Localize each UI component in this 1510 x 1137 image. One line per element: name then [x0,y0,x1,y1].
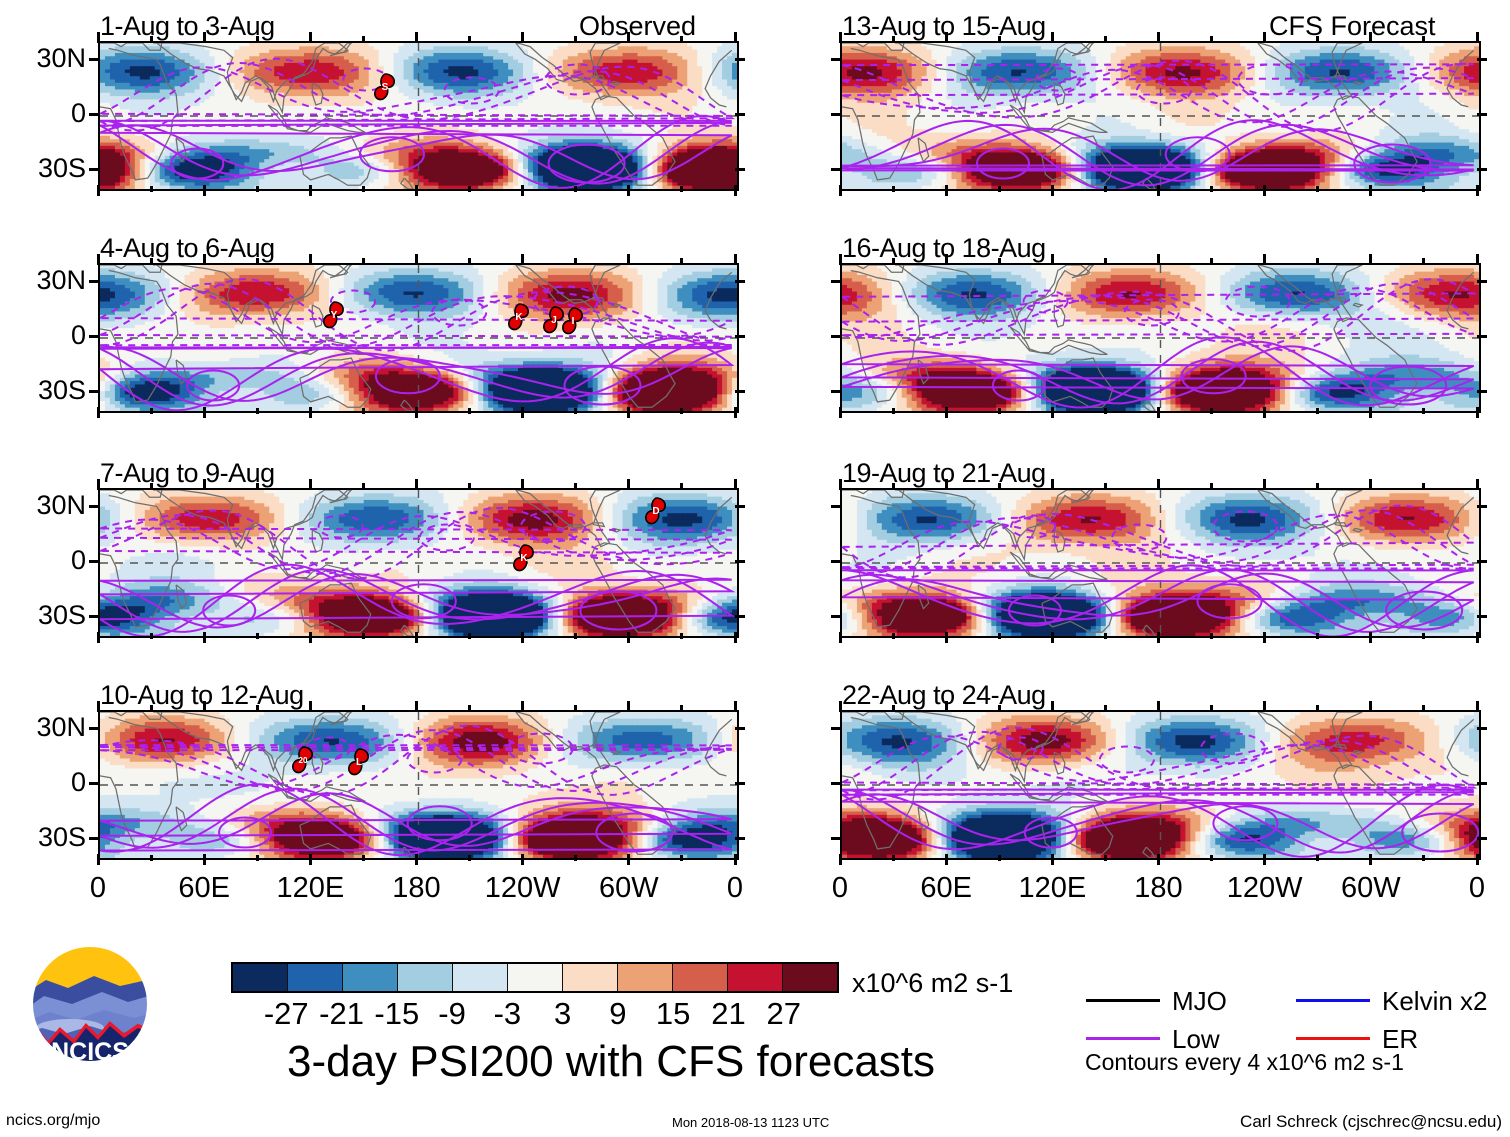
x-axis-tick-mark [203,632,206,643]
x-axis-tick-mark [734,407,737,418]
x-axis-tick-mark [1157,32,1160,43]
colorbar-segment-3 [398,964,453,991]
ncics-logo[interactable]: NCICS [24,938,156,1070]
y-axis-tick-mark [735,58,745,61]
x-axis-tick-mark [468,855,471,861]
y-axis-tick-mark [1477,168,1487,171]
x-axis-tick-mark [998,36,1001,42]
x-axis-tick-label: 120W [1205,874,1325,903]
y-axis-tick-mark [1477,837,1487,840]
x-axis-tick-mark [97,701,100,712]
x-axis-tick-mark [150,483,153,489]
logo-text: NCICS [51,1038,129,1066]
x-axis-tick-mark [203,701,206,712]
x-axis-tick-mark [998,483,1001,489]
x-axis-tick-label: 0 [675,874,795,903]
x-axis-tick-mark [309,407,312,418]
x-axis-tick-mark [680,258,683,264]
colorbar-segment-1 [288,964,343,991]
x-axis-tick-mark [150,186,153,192]
x-axis-tick-mark [1369,701,1372,712]
y-axis-tick-mark [831,727,841,730]
storm-marker: D [643,496,669,526]
x-axis-tick-mark [945,701,948,712]
x-axis-tick-mark [1263,479,1266,490]
x-axis-tick-mark [1210,36,1213,42]
x-axis-tick-mark [680,705,683,711]
y-axis-tick-mark [1477,560,1487,563]
x-axis-tick-mark [1422,186,1425,192]
x-axis-tick-mark [839,185,842,196]
y-axis-tick-label: 30S [2,377,86,404]
y-axis-tick-mark [735,837,745,840]
x-axis-tick-mark [998,258,1001,264]
x-axis-tick-mark [1476,479,1479,490]
colorbar [231,962,839,993]
y-axis-tick-mark [1477,113,1487,116]
y-axis-tick-mark [831,505,841,508]
y-axis-tick-mark [1477,280,1487,283]
x-axis-tick-mark [1210,258,1213,264]
x-axis-tick-mark [150,36,153,42]
x-axis-tick-mark [1316,408,1319,414]
x-axis-tick-mark [203,854,206,865]
y-axis-tick-mark [89,390,99,393]
x-axis-tick-mark [1104,258,1107,264]
x-axis-tick-mark [1263,185,1266,196]
x-axis-tick-label: 0 [780,874,900,903]
x-axis-tick-mark [627,854,630,865]
x-axis-tick-mark [521,32,524,43]
x-axis-tick-mark [1051,407,1054,418]
x-axis-tick-label: 60E [144,874,264,903]
x-axis-tick-mark [309,701,312,712]
x-axis-tick-mark [574,36,577,42]
x-axis-tick-mark [203,254,206,265]
y-axis-tick-mark [1477,505,1487,508]
x-axis-tick-mark [521,701,524,712]
x-axis-tick-mark [415,701,418,712]
x-axis-tick-mark [97,254,100,265]
x-axis-tick-mark [627,632,630,643]
map-plot-area [840,488,1481,638]
x-axis-tick-mark [892,855,895,861]
x-axis-tick-mark [1210,633,1213,639]
y-axis-tick-mark [1477,335,1487,338]
x-axis-tick-mark [1316,186,1319,192]
x-axis-tick-mark [1316,633,1319,639]
x-axis-tick-mark [256,705,259,711]
x-axis-tick-mark [680,36,683,42]
x-axis-tick-mark [1104,705,1107,711]
x-axis-tick-mark [945,479,948,490]
x-axis-tick-mark [203,407,206,418]
y-axis-tick-label: 0 [2,100,86,127]
x-axis-tick-label: 180 [1099,874,1219,903]
x-axis-tick-mark [415,854,418,865]
x-axis-tick-mark [1476,407,1479,418]
x-axis-tick-mark [1316,258,1319,264]
y-axis-tick-mark [831,782,841,785]
x-axis-tick-mark [1263,254,1266,265]
x-axis-tick-mark [1316,36,1319,42]
x-axis-tick-mark [627,407,630,418]
x-axis-tick-mark [1157,407,1160,418]
x-axis-tick-mark [839,254,842,265]
y-axis-tick-mark [89,113,99,116]
x-axis-tick-mark [1476,185,1479,196]
legend-line-low [1086,1037,1160,1040]
map-plot-area: S [98,41,739,191]
x-axis-tick-mark [1316,855,1319,861]
x-axis-tick-mark [1104,855,1107,861]
x-axis-tick-mark [362,258,365,264]
x-axis-tick-mark [362,186,365,192]
x-axis-tick-label: 60W [1311,874,1431,903]
x-axis-tick-mark [1051,854,1054,865]
x-axis-tick-mark [998,186,1001,192]
y-axis-tick-mark [831,58,841,61]
x-axis-tick-mark [839,632,842,643]
x-axis-tick-mark [256,408,259,414]
colorbar-segment-10 [783,964,837,991]
colorbar-units-label: x10^6 m2 s-1 [852,968,1013,999]
x-axis-tick-mark [1263,632,1266,643]
x-axis-tick-mark [362,855,365,861]
x-axis-tick-mark [734,701,737,712]
x-axis-tick-mark [468,633,471,639]
colorbar-segment-0 [233,964,288,991]
map-plot-area: 20L [98,710,739,860]
x-axis-tick-mark [521,854,524,865]
x-axis-tick-mark [521,185,524,196]
y-axis-tick-mark [735,113,745,116]
map-plot-area: KD [98,488,739,638]
legend-line-er [1296,1037,1370,1040]
x-axis-tick-mark [627,479,630,490]
x-axis-tick-mark [1369,407,1372,418]
x-axis-tick-mark [256,483,259,489]
panel-title: 1-Aug to 3-Aug [100,13,275,40]
footer-author: Carl Schreck (cjschrec@ncsu.edu) [1240,1113,1502,1130]
contour-interval-note: Contours every 4 x10^6 m2 s-1 [1085,1049,1404,1076]
x-axis-tick-mark [1369,185,1372,196]
x-axis-tick-mark [203,479,206,490]
x-axis-tick-mark [309,632,312,643]
x-axis-tick-mark [468,483,471,489]
x-axis-tick-mark [97,32,100,43]
x-axis-tick-mark [627,185,630,196]
x-axis-tick-mark [627,254,630,265]
x-axis-tick-mark [574,633,577,639]
x-axis-tick-mark [1104,483,1107,489]
footer-website[interactable]: ncics.org/mjo [6,1113,100,1129]
x-axis-tick-mark [574,705,577,711]
x-axis-tick-mark [1369,32,1372,43]
x-axis-tick-mark [892,483,895,489]
x-axis-tick-mark [1210,705,1213,711]
y-axis-tick-mark [1477,615,1487,618]
x-axis-tick-mark [1157,254,1160,265]
x-axis-tick-label: 120E [992,874,1112,903]
map-plot-area [840,263,1481,413]
x-axis-tick-label: 60W [569,874,689,903]
x-axis-tick-mark [839,407,842,418]
x-axis-tick-label: 0 [38,874,158,903]
x-axis-tick-mark [998,855,1001,861]
y-axis-tick-mark [831,168,841,171]
x-axis-tick-mark [203,185,206,196]
x-axis-tick-mark [680,408,683,414]
x-axis-tick-mark [203,32,206,43]
x-axis-tick-mark [574,258,577,264]
x-axis-tick-mark [627,701,630,712]
x-axis-tick-mark [1316,483,1319,489]
footer-timestamp: Mon 2018-08-13 1123 UTC [672,1116,829,1129]
y-axis-tick-mark [89,168,99,171]
y-axis-tick-mark [89,782,99,785]
colorbar-tick-label: 27 [734,998,834,1029]
x-axis-tick-mark [839,32,842,43]
x-axis-tick-mark [1369,632,1372,643]
storm-marker: L [346,747,372,777]
x-axis-tick-mark [309,32,312,43]
x-axis-tick-mark [256,258,259,264]
y-axis-tick-label: 30N [2,45,86,72]
x-axis-tick-mark [97,479,100,490]
x-axis-tick-mark [1104,633,1107,639]
x-axis-tick-mark [97,185,100,196]
x-axis-tick-mark [309,854,312,865]
colorbar-segment-2 [343,964,398,991]
x-axis-tick-mark [415,254,418,265]
x-axis-tick-label: 60E [886,874,1006,903]
x-axis-tick-mark [1104,408,1107,414]
y-axis-tick-mark [831,837,841,840]
x-axis-tick-mark [627,32,630,43]
x-axis-tick-mark [574,855,577,861]
x-axis-tick-mark [362,408,365,414]
y-axis-tick-mark [831,335,841,338]
storm-marker: 20 [290,745,316,775]
x-axis-tick-mark [362,483,365,489]
x-axis-tick-mark [945,32,948,43]
x-axis-tick-mark [945,407,948,418]
x-axis-tick-mark [1422,408,1425,414]
x-axis-tick-mark [256,633,259,639]
x-axis-tick-mark [256,855,259,861]
y-axis-tick-mark [735,727,745,730]
x-axis-tick-mark [415,185,418,196]
figure-title: 3-day PSI200 with CFS forecasts [226,1040,996,1084]
x-axis-tick-mark [1422,705,1425,711]
y-axis-tick-mark [89,560,99,563]
x-axis-tick-mark [97,407,100,418]
x-axis-tick-mark [1051,479,1054,490]
legend-line-mjo [1086,999,1160,1002]
y-axis-tick-label: 30S [2,602,86,629]
y-axis-tick-mark [1477,390,1487,393]
x-axis-tick-mark [468,705,471,711]
x-axis-tick-mark [1157,185,1160,196]
x-axis-tick-mark [1369,479,1372,490]
x-axis-tick-mark [415,32,418,43]
x-axis-tick-mark [734,632,737,643]
x-axis-tick-mark [1263,407,1266,418]
y-axis-tick-label: 30N [2,492,86,519]
x-axis-tick-mark [998,408,1001,414]
x-axis-tick-label: 120E [250,874,370,903]
x-axis-tick-mark [574,483,577,489]
x-axis-tick-mark [150,705,153,711]
y-axis-tick-mark [735,280,745,283]
y-axis-tick-mark [89,727,99,730]
y-axis-tick-mark [89,505,99,508]
x-axis-tick-mark [256,36,259,42]
x-axis-tick-mark [309,479,312,490]
storm-marker: K [506,302,532,332]
x-axis-tick-mark [415,632,418,643]
x-axis-tick-mark [892,705,895,711]
x-axis-tick-mark [1476,32,1479,43]
x-axis-tick-mark [1263,701,1266,712]
storm-marker: S [372,72,398,102]
y-axis-tick-mark [831,390,841,393]
storm-marker: Y [321,300,347,330]
x-axis-tick-mark [1051,632,1054,643]
x-axis-tick-mark [998,633,1001,639]
x-axis-tick-mark [1422,258,1425,264]
colorbar-segment-4 [453,964,508,991]
storm-marker: K [511,543,537,573]
x-axis-tick-mark [1157,632,1160,643]
legend-label: Kelvin x2 [1382,988,1488,1014]
x-axis-tick-mark [892,186,895,192]
x-axis-tick-mark [362,633,365,639]
x-axis-tick-mark [1157,479,1160,490]
x-axis-tick-mark [1476,632,1479,643]
x-axis-tick-mark [680,633,683,639]
x-axis-tick-mark [1476,854,1479,865]
y-axis-tick-mark [735,560,745,563]
x-axis-tick-mark [892,408,895,414]
y-axis-tick-mark [89,58,99,61]
x-axis-tick-mark [521,254,524,265]
y-axis-tick-mark [1477,782,1487,785]
y-axis-tick-mark [735,615,745,618]
x-axis-tick-mark [1051,701,1054,712]
x-axis-tick-mark [521,407,524,418]
x-axis-tick-mark [468,36,471,42]
y-axis-tick-mark [735,782,745,785]
y-axis-tick-label: 0 [2,769,86,796]
x-axis-tick-mark [468,408,471,414]
y-axis-tick-mark [831,280,841,283]
forecast-column-label: CFS Forecast [1269,13,1436,40]
y-axis-tick-mark [89,837,99,840]
colorbar-segment-8 [673,964,728,991]
x-axis-tick-mark [945,632,948,643]
x-axis-tick-mark [734,32,737,43]
x-axis-tick-mark [734,479,737,490]
x-axis-tick-mark [415,407,418,418]
x-axis-tick-mark [680,855,683,861]
x-axis-tick-mark [1369,254,1372,265]
x-axis-tick-mark [734,254,737,265]
x-axis-tick-mark [680,483,683,489]
x-axis-tick-mark [309,185,312,196]
x-axis-tick-mark [1157,701,1160,712]
x-axis-tick-mark [97,854,100,865]
x-axis-tick-mark [521,479,524,490]
panel-title: 7-Aug to 9-Aug [100,460,275,487]
legend-line-kelvin-x2 [1296,999,1370,1002]
colorbar-segment-6 [563,964,618,991]
x-axis-tick-mark [1422,483,1425,489]
x-axis-tick-mark [362,705,365,711]
x-axis-tick-mark [839,854,842,865]
y-axis-tick-mark [89,280,99,283]
x-axis-tick-mark [1051,185,1054,196]
y-axis-tick-mark [735,168,745,171]
x-axis-tick-mark [1369,854,1372,865]
x-axis-tick-mark [1422,36,1425,42]
x-axis-tick-mark [362,36,365,42]
x-axis-tick-mark [1210,483,1213,489]
y-axis-tick-mark [831,560,841,563]
x-axis-tick-mark [256,186,259,192]
y-axis-tick-label: 30N [2,714,86,741]
x-axis-tick-mark [680,186,683,192]
x-axis-tick-mark [1422,633,1425,639]
x-axis-tick-mark [734,185,737,196]
x-axis-tick-mark [945,854,948,865]
x-axis-tick-mark [1210,408,1213,414]
y-axis-tick-mark [831,615,841,618]
x-axis-tick-mark [150,258,153,264]
x-axis-tick-mark [1476,701,1479,712]
x-axis-tick-mark [415,479,418,490]
x-axis-tick-mark [1051,32,1054,43]
x-axis-tick-mark [468,186,471,192]
x-axis-tick-mark [892,258,895,264]
x-axis-tick-mark [150,633,153,639]
y-axis-tick-mark [1477,727,1487,730]
colorbar-segment-7 [618,964,673,991]
y-axis-tick-label: 30S [2,824,86,851]
x-axis-tick-mark [1263,854,1266,865]
x-axis-tick-mark [1476,254,1479,265]
x-axis-tick-mark [97,632,100,643]
x-axis-tick-label: 0 [1417,874,1510,903]
y-axis-tick-mark [735,335,745,338]
x-axis-tick-mark [1263,32,1266,43]
x-axis-tick-mark [1210,186,1213,192]
y-axis-tick-label: 30S [2,155,86,182]
x-axis-tick-mark [574,408,577,414]
x-axis-tick-mark [945,185,948,196]
x-axis-tick-mark [468,258,471,264]
panel-title: 4-Aug to 6-Aug [100,235,275,262]
x-axis-tick-mark [892,633,895,639]
x-axis-tick-mark [734,854,737,865]
x-axis-tick-mark [998,705,1001,711]
map-plot-area: YKJI [98,263,739,413]
x-axis-tick-mark [150,855,153,861]
x-axis-tick-mark [1104,36,1107,42]
map-plot-area [840,41,1481,191]
y-axis-tick-mark [831,113,841,116]
